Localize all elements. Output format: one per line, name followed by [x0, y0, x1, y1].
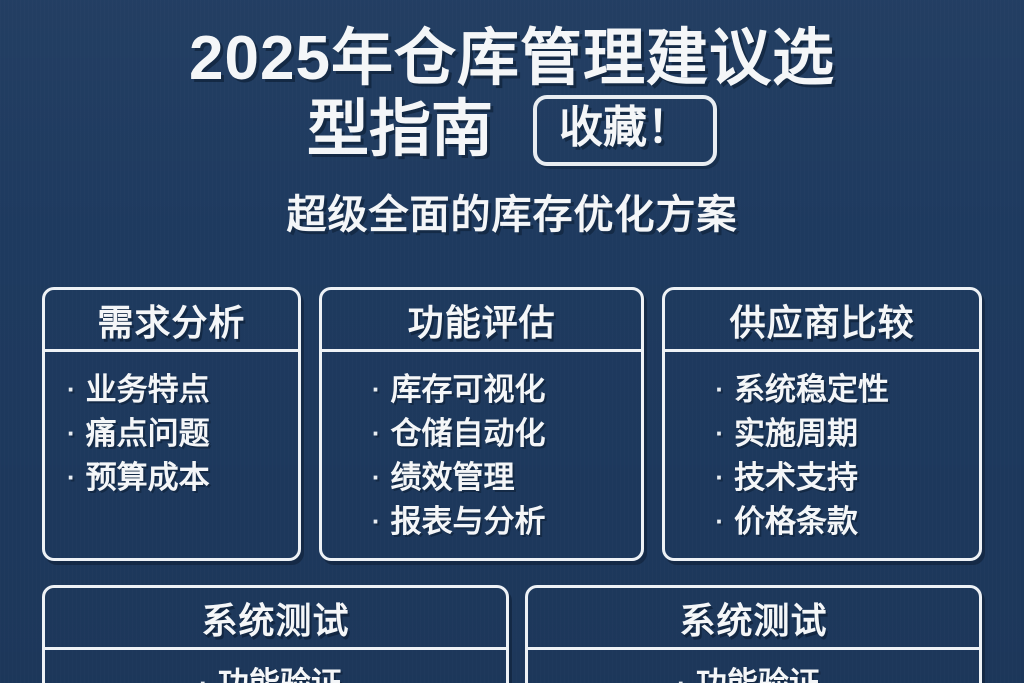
bullet-list: · 功能验证 — [45, 662, 496, 683]
bullet-dot-icon: · — [372, 508, 381, 534]
card-header: 需求分析 — [45, 290, 298, 352]
bullet-dot-icon: · — [715, 464, 724, 490]
list-item[interactable]: · 系统稳定性 — [715, 368, 969, 412]
list-item[interactable]: · 预算成本 — [67, 456, 288, 500]
bullet-dot-icon: · — [372, 376, 381, 402]
list-item[interactable]: · 库存可视化 — [372, 368, 632, 412]
bullet-list: · 系统稳定性 · 实施周期 · 技术支持 · 价格条款 — [715, 368, 969, 544]
list-item-label: 功能验证 — [218, 662, 342, 683]
list-item-label: 技术支持 — [734, 456, 858, 500]
list-item-label: 痛点问题 — [86, 412, 210, 456]
page-title-line-2: 型指南 — [307, 97, 493, 164]
card-vendor-comparison[interactable]: 供应商比较 · 系统稳定性 · 实施周期 · 技术支持 — [662, 287, 982, 561]
list-item-label: 库存可视化 — [391, 368, 546, 412]
bullet-list: · 功能验证 — [528, 662, 969, 683]
list-item-label: 系统稳定性 — [734, 368, 889, 412]
list-item-label: 价格条款 — [734, 500, 858, 544]
bullet-dot-icon: · — [715, 508, 724, 534]
card-header: 功能评估 — [322, 290, 642, 352]
bullet-dot-icon: · — [67, 376, 76, 402]
favorite-badge[interactable]: 收藏！ — [533, 95, 717, 166]
list-item[interactable]: · 绩效管理 — [372, 456, 632, 500]
poster-header: 2025年仓库管理建议选 型指南 收藏！ 超级全面的库存优化方案 — [0, 0, 1024, 240]
bullet-dot-icon: · — [677, 670, 686, 683]
list-item[interactable]: · 实施周期 — [715, 412, 969, 456]
bullet-dot-icon: · — [715, 376, 724, 402]
card-title: 系统测试 — [679, 592, 827, 644]
list-item[interactable]: · 业务特点 — [67, 368, 288, 412]
list-item-label: 仓储自动化 — [391, 412, 546, 456]
bullet-dot-icon: · — [372, 420, 381, 446]
list-item-label: 预算成本 — [86, 456, 210, 500]
card-function-evaluation[interactable]: 功能评估 · 库存可视化 · 仓储自动化 · 绩效管理 — [319, 287, 645, 561]
card-body: · 功能验证 — [45, 650, 506, 683]
list-item[interactable]: · 价格条款 — [715, 500, 969, 544]
bullet-list: · 库存可视化 · 仓储自动化 · 绩效管理 · 报表与分析 — [372, 368, 632, 544]
card-title: 需求分析 — [97, 294, 245, 346]
list-item[interactable]: · 功能验证 — [528, 662, 969, 683]
card-header: 系统测试 — [528, 588, 979, 650]
bullet-dot-icon: · — [372, 464, 381, 490]
card-body: · 库存可视化 · 仓储自动化 · 绩效管理 · 报表与分析 — [322, 352, 642, 558]
list-item[interactable]: · 仓储自动化 — [372, 412, 632, 456]
bullet-dot-icon: · — [67, 464, 76, 490]
poster-canvas: 2025年仓库管理建议选 型指南 收藏！ 超级全面的库存优化方案 需求分析 · … — [0, 0, 1024, 683]
title-row-2: 型指南 收藏！ — [0, 95, 1024, 166]
card-body: · 功能验证 — [528, 650, 979, 683]
bullet-dot-icon: · — [199, 670, 208, 683]
bullet-dot-icon: · — [715, 420, 724, 446]
card-title: 供应商比较 — [730, 294, 915, 346]
page-subtitle: 超级全面的库存优化方案 — [0, 182, 1024, 240]
card-header: 供应商比较 — [665, 290, 979, 352]
card-body: · 系统稳定性 · 实施周期 · 技术支持 · 价格条款 — [665, 352, 979, 558]
list-item-label: 业务特点 — [86, 368, 210, 412]
list-item[interactable]: · 技术支持 — [715, 456, 969, 500]
list-item-label: 功能验证 — [696, 662, 820, 683]
card-title: 系统测试 — [201, 592, 349, 644]
bullet-dot-icon: · — [67, 420, 76, 446]
list-item-label: 报表与分析 — [391, 500, 546, 544]
page-title-line-1: 2025年仓库管理建议选 — [0, 26, 1024, 93]
title-block: 2025年仓库管理建议选 型指南 收藏！ 超级全面的库存优化方案 — [0, 0, 1024, 240]
card-requirement-analysis[interactable]: 需求分析 · 业务特点 · 痛点问题 · 预算成本 — [42, 287, 301, 561]
list-item[interactable]: · 报表与分析 — [372, 500, 632, 544]
card-header: 系统测试 — [45, 588, 506, 650]
card-system-testing-2[interactable]: 系统测试 · 功能验证 — [525, 585, 982, 683]
cards-row-primary: 需求分析 · 业务特点 · 痛点问题 · 预算成本 — [42, 287, 982, 561]
bullet-list: · 业务特点 · 痛点问题 · 预算成本 — [67, 368, 288, 500]
list-item-label: 实施周期 — [734, 412, 858, 456]
list-item[interactable]: · 功能验证 — [45, 662, 496, 683]
cards-row-secondary: 系统测试 · 功能验证 系统测试 · 功能验证 — [42, 585, 982, 683]
card-system-testing-1[interactable]: 系统测试 · 功能验证 — [42, 585, 509, 683]
card-body: · 业务特点 · 痛点问题 · 预算成本 — [45, 352, 298, 558]
card-title: 功能评估 — [408, 294, 556, 346]
list-item[interactable]: · 痛点问题 — [67, 412, 288, 456]
list-item-label: 绩效管理 — [391, 456, 515, 500]
